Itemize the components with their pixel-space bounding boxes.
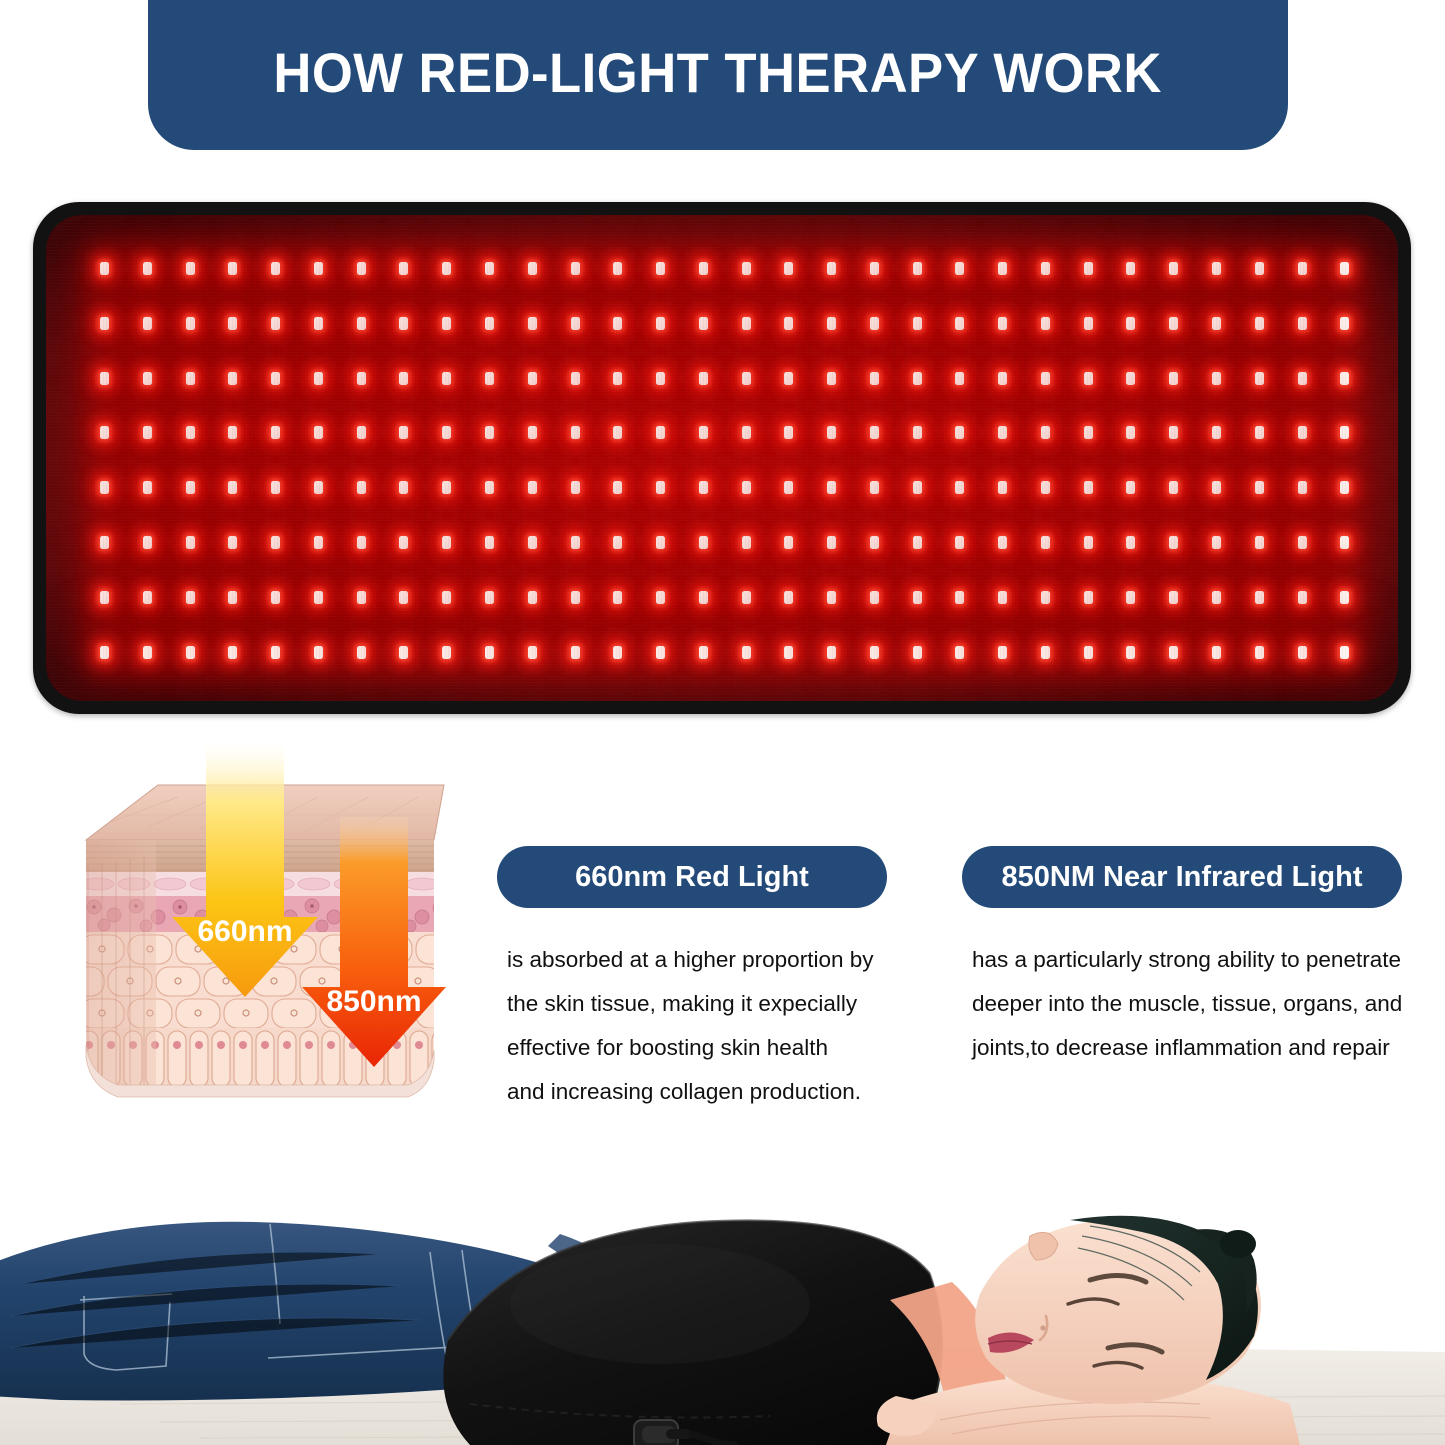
led-light [998,426,1007,439]
led-light [399,591,408,604]
red-light-therapy-pad-product-image [33,202,1411,714]
led-light [742,372,751,385]
led-light [656,591,665,604]
led-light [485,372,494,385]
led-row [100,536,1349,550]
led-light [399,317,408,330]
led-light [571,591,580,604]
led-light [528,317,537,330]
led-grid [100,261,1349,660]
led-light [1084,591,1093,604]
led-light [442,536,451,549]
led-light [1212,317,1221,330]
led-light [1255,481,1264,494]
led-light [784,262,793,275]
led-light [228,317,237,330]
led-light [1212,591,1221,604]
led-light [913,317,922,330]
arrow-850nm-label: 850nm [326,985,421,1018]
led-light [784,481,793,494]
led-light [742,646,751,659]
led-light [998,262,1007,275]
led-light [228,646,237,659]
led-light [742,481,751,494]
led-light [228,591,237,604]
led-light [271,262,280,275]
led-light [442,481,451,494]
led-light [1298,426,1307,439]
led-light [485,317,494,330]
led-light [870,372,879,385]
led-light [913,372,922,385]
led-light [1084,646,1093,659]
led-light [613,646,622,659]
led-light [827,591,836,604]
led-light [1340,481,1349,494]
led-light [1084,536,1093,549]
led-light [100,426,109,439]
led-light [143,262,152,275]
led-light [1340,262,1349,275]
led-light [1255,426,1264,439]
led-light [699,262,708,275]
led-light [357,317,366,330]
led-light [143,591,152,604]
led-light [699,646,708,659]
led-light [1084,317,1093,330]
led-light [827,262,836,275]
info-850nm-line: deeper into the muscle, tissue, organs, … [972,982,1410,1026]
led-light [955,481,964,494]
led-light [143,372,152,385]
led-light [485,536,494,549]
led-light [528,646,537,659]
led-light [143,426,152,439]
led-light [186,372,195,385]
led-light [1340,317,1349,330]
led-row [100,426,1349,440]
led-light [314,372,323,385]
led-light [143,317,152,330]
led-light [571,372,580,385]
led-light [528,372,537,385]
arrow-660nm-label: 660nm [197,915,292,948]
led-light [699,426,708,439]
led-light [571,536,580,549]
led-light [699,481,708,494]
led-light [1126,536,1135,549]
led-light [913,426,922,439]
led-light [998,591,1007,604]
led-light [228,426,237,439]
led-light [1041,591,1050,604]
led-row [100,481,1349,495]
info-660nm-line: effective for boosting skin health [507,1026,897,1070]
led-light [998,317,1007,330]
led-light [699,317,708,330]
led-light [1169,262,1178,275]
led-light [100,262,109,275]
led-light [1212,646,1221,659]
led-light [186,262,195,275]
led-light [357,426,366,439]
led-light [1298,481,1307,494]
led-light [613,481,622,494]
led-light [1255,536,1264,549]
led-row [100,646,1349,660]
led-light [784,317,793,330]
info-850nm-line: joints,to decrease inflammation and repa… [972,1026,1410,1070]
led-light [143,646,152,659]
led-light [913,646,922,659]
led-light [1340,646,1349,659]
led-light [870,591,879,604]
led-light [442,317,451,330]
led-light [186,591,195,604]
led-light [314,646,323,659]
led-light [1212,536,1221,549]
led-light [827,646,836,659]
led-light [528,262,537,275]
led-light [656,317,665,330]
led-row [100,316,1349,330]
led-light [827,536,836,549]
led-light [100,481,109,494]
led-light [656,646,665,659]
led-light [399,481,408,494]
led-light [1298,646,1307,659]
led-light [827,426,836,439]
led-light [1084,481,1093,494]
led-light [1169,317,1178,330]
led-light [1255,262,1264,275]
led-light [1084,262,1093,275]
led-light [1041,646,1050,659]
led-light [1041,481,1050,494]
led-light [1041,536,1050,549]
info-850nm-body: has a particularly strong ability to pen… [962,938,1410,1070]
led-light [528,481,537,494]
led-light [528,426,537,439]
led-light [357,536,366,549]
header-banner: HOW RED-LIGHT THERAPY WORK [148,0,1288,150]
led-light [399,426,408,439]
led-light [656,536,665,549]
led-light [100,591,109,604]
led-light [571,426,580,439]
led-light [1340,372,1349,385]
led-light [1212,426,1221,439]
led-light [998,481,1007,494]
led-light [1212,372,1221,385]
led-light [1212,262,1221,275]
led-light [357,646,366,659]
led-light [1169,481,1178,494]
led-light [955,372,964,385]
led-light [827,317,836,330]
led-row [100,591,1349,605]
led-light [1298,262,1307,275]
led-light [1126,372,1135,385]
led-light [1126,262,1135,275]
led-light [742,536,751,549]
led-light [485,646,494,659]
led-light [186,646,195,659]
led-light [271,646,280,659]
led-light [1126,426,1135,439]
usage-photo [0,1104,1445,1445]
led-light [442,426,451,439]
led-row [100,261,1349,275]
led-light [399,372,408,385]
led-light [1340,591,1349,604]
led-light [827,372,836,385]
led-light [742,262,751,275]
led-light [186,426,195,439]
led-light [827,481,836,494]
led-light [913,262,922,275]
led-light [1255,646,1264,659]
led-light [228,262,237,275]
led-light [485,426,494,439]
led-light [100,372,109,385]
led-light [1169,591,1178,604]
led-light [955,262,964,275]
led-light [1126,481,1135,494]
led-light [399,646,408,659]
led-light [271,426,280,439]
led-light [1041,372,1050,385]
led-light [186,317,195,330]
led-light [571,262,580,275]
led-light [613,591,622,604]
led-light [913,591,922,604]
led-light [998,646,1007,659]
led-light [998,536,1007,549]
led-light [1298,591,1307,604]
led-light [442,591,451,604]
led-light [1169,646,1178,659]
led-light [1126,591,1135,604]
led-light [1298,317,1307,330]
info-660nm-line: the skin tissue, making it expecially [507,982,897,1026]
led-light [442,262,451,275]
led-light [143,481,152,494]
led-light [870,481,879,494]
led-light [784,426,793,439]
led-light [613,372,622,385]
led-light [228,536,237,549]
led-light [357,262,366,275]
led-light [613,262,622,275]
led-light [913,536,922,549]
led-light [870,536,879,549]
info-660nm-line: is absorbed at a higher proportion by [507,938,897,982]
led-light [699,372,708,385]
led-light [1298,372,1307,385]
led-light [1169,426,1178,439]
led-light [870,646,879,659]
led-light [870,426,879,439]
led-light [1340,426,1349,439]
badge-850nm-near-infrared-light: 850NM Near Infrared Light [962,846,1402,908]
led-light [955,426,964,439]
led-light [271,591,280,604]
led-light [742,426,751,439]
led-row [100,371,1349,385]
led-light [100,536,109,549]
led-light [699,591,708,604]
led-light [913,481,922,494]
led-light [442,646,451,659]
led-light [442,372,451,385]
led-light [314,591,323,604]
led-light [100,646,109,659]
led-light [485,262,494,275]
led-light [1212,481,1221,494]
info-850nm-line: has a particularly strong ability to pen… [972,938,1410,982]
page-title: HOW RED-LIGHT THERAPY WORK [274,40,1163,105]
led-light [485,591,494,604]
led-light [314,481,323,494]
led-light [271,481,280,494]
led-light [143,536,152,549]
pad-light-surface [46,215,1398,701]
led-light [1041,426,1050,439]
led-light [357,372,366,385]
led-light [399,536,408,549]
info-column-660nm: 660nm Red Light is absorbed at a higher … [497,846,897,1114]
led-light [271,372,280,385]
hair-bun [1220,1230,1256,1258]
led-light [998,372,1007,385]
led-light [1169,536,1178,549]
led-light [784,536,793,549]
led-light [314,317,323,330]
led-light [870,262,879,275]
led-light [955,591,964,604]
led-light [613,426,622,439]
info-column-850nm: 850NM Near Infrared Light has a particul… [962,846,1410,1070]
led-light [186,481,195,494]
led-light [1041,262,1050,275]
led-light [271,536,280,549]
led-light [955,646,964,659]
led-light [528,591,537,604]
led-light [271,317,280,330]
led-light [1084,372,1093,385]
led-light [1169,372,1178,385]
led-light [870,317,879,330]
led-light [656,262,665,275]
led-light [314,262,323,275]
led-light [314,536,323,549]
info-660nm-body: is absorbed at a higher proportion by th… [497,938,897,1114]
badge-660nm-red-light: 660nm Red Light [497,846,887,908]
led-light [228,481,237,494]
led-light [314,426,323,439]
led-light [228,372,237,385]
led-light [357,591,366,604]
led-light [1126,317,1135,330]
led-light [1255,317,1264,330]
led-light [528,536,537,549]
led-light [1298,536,1307,549]
led-light [955,536,964,549]
led-light [1126,646,1135,659]
led-light [656,426,665,439]
led-light [571,481,580,494]
led-light [613,536,622,549]
led-light [656,481,665,494]
led-light [784,591,793,604]
led-light [1084,426,1093,439]
led-light [1255,591,1264,604]
led-light [1041,317,1050,330]
led-light [399,262,408,275]
led-light [571,646,580,659]
led-light [1340,536,1349,549]
led-light [186,536,195,549]
led-light [485,481,494,494]
led-light [1255,372,1264,385]
led-light [784,646,793,659]
led-light [699,536,708,549]
led-light [784,372,793,385]
led-light [742,317,751,330]
led-light [742,591,751,604]
led-light [656,372,665,385]
skin-penetration-diagram: 660nm 850nm [78,745,450,1105]
led-light [100,317,109,330]
led-light [613,317,622,330]
led-light [571,317,580,330]
led-light [955,317,964,330]
led-light [357,481,366,494]
